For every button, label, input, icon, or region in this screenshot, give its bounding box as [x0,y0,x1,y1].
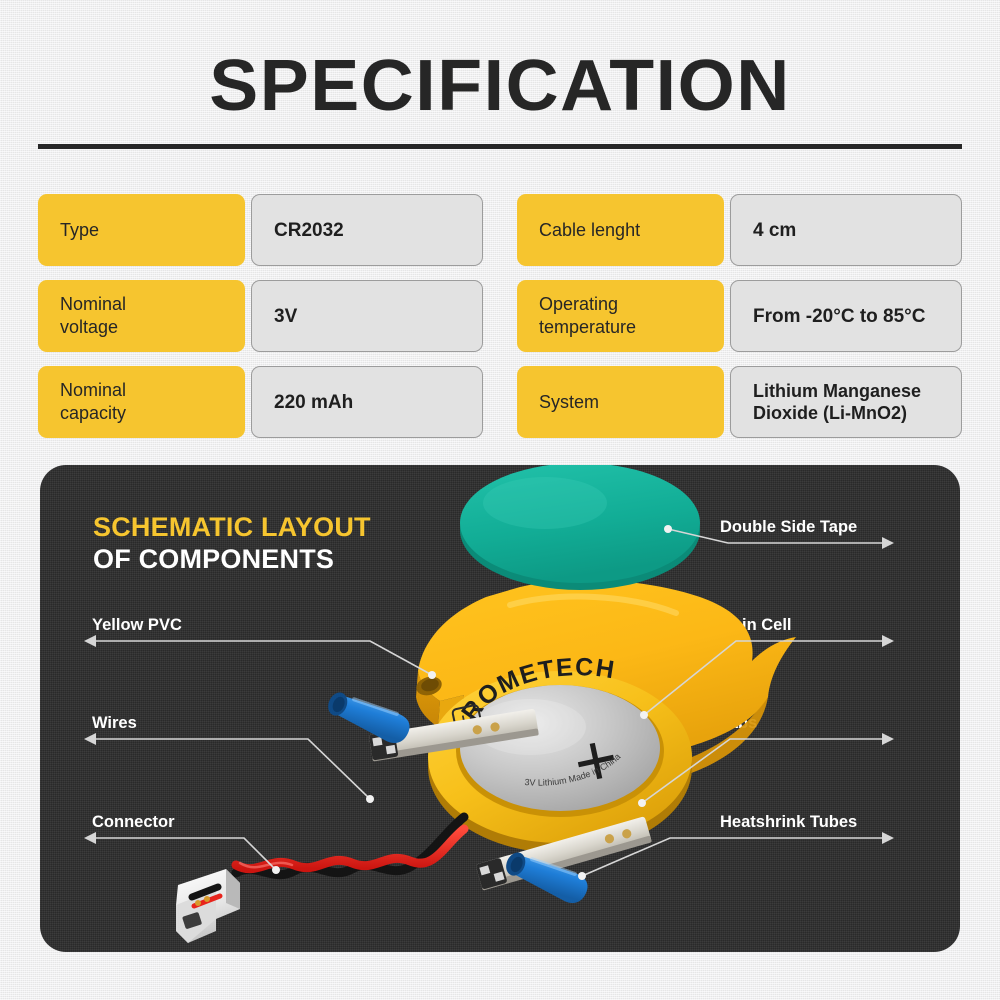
spec-key-system: System [517,366,724,438]
anchor-dot-heatshrink-tubes [578,872,586,880]
title-divider [38,144,962,149]
anchor-dot-yellow-pvc [428,671,436,679]
spec-value-nominal-voltage: 3V [251,280,483,352]
leader-wires [96,739,370,799]
arrowhead-coin-cell [882,635,894,647]
anchor-dot-coin-cell [640,711,648,719]
spec-key-nominal-capacity: Nominal capacity [38,366,245,438]
arrowhead-tabs [882,733,894,745]
arrowhead-double-side-tape [882,537,894,549]
arrowhead-yellow-pvc [84,635,96,647]
spec-key-cable-length: Cable lenght [517,194,724,266]
schematic-panel: SCHEMATIC LAYOUT OF COMPONENTS [40,465,960,952]
spec-value-type: CR2032 [251,194,483,266]
spec-key-operating-temperature: Operating temperature [517,280,724,352]
anchor-dot-wires [366,795,374,803]
table-row: Nominal voltage 3V [38,280,483,352]
table-row: Nominal capacity 220 mAh [38,366,483,438]
anchor-dot-connector [272,866,280,874]
spec-key-type: Type [38,194,245,266]
spec-key-nominal-voltage: Nominal voltage [38,280,245,352]
table-row: Cable lenght 4 cm [517,194,962,266]
leader-tabs [642,739,882,803]
spec-value-cable-length: 4 cm [730,194,962,266]
leader-connector [96,838,276,870]
callout-leader-lines [40,465,960,952]
anchor-dot-double-side-tape [664,525,672,533]
page-title: SPECIFICATION [29,48,971,124]
leader-double-side-tape [668,529,882,543]
title-block: SPECIFICATION [38,48,962,124]
table-row: System Lithium Manganese Dioxide (Li-MnO… [517,366,962,438]
table-row: Operating temperature From -20°C to 85°C [517,280,962,352]
arrowhead-wires [84,733,96,745]
arrowhead-connector [84,832,96,844]
spec-value-nominal-capacity: 220 mAh [251,366,483,438]
specification-table: Type CR2032 Cable lenght 4 cm Nominal vo… [38,194,962,438]
anchor-dot-tabs [638,799,646,807]
arrowhead-heatshrink-tubes [882,832,894,844]
spec-value-operating-temperature: From -20°C to 85°C [730,280,962,352]
spec-value-system: Lithium Manganese Dioxide (Li-MnO2) [730,366,962,438]
leader-coin-cell [644,641,882,715]
table-row: Type CR2032 [38,194,483,266]
leader-yellow-pvc [96,641,432,675]
leader-heatshrink-tubes [582,838,882,876]
